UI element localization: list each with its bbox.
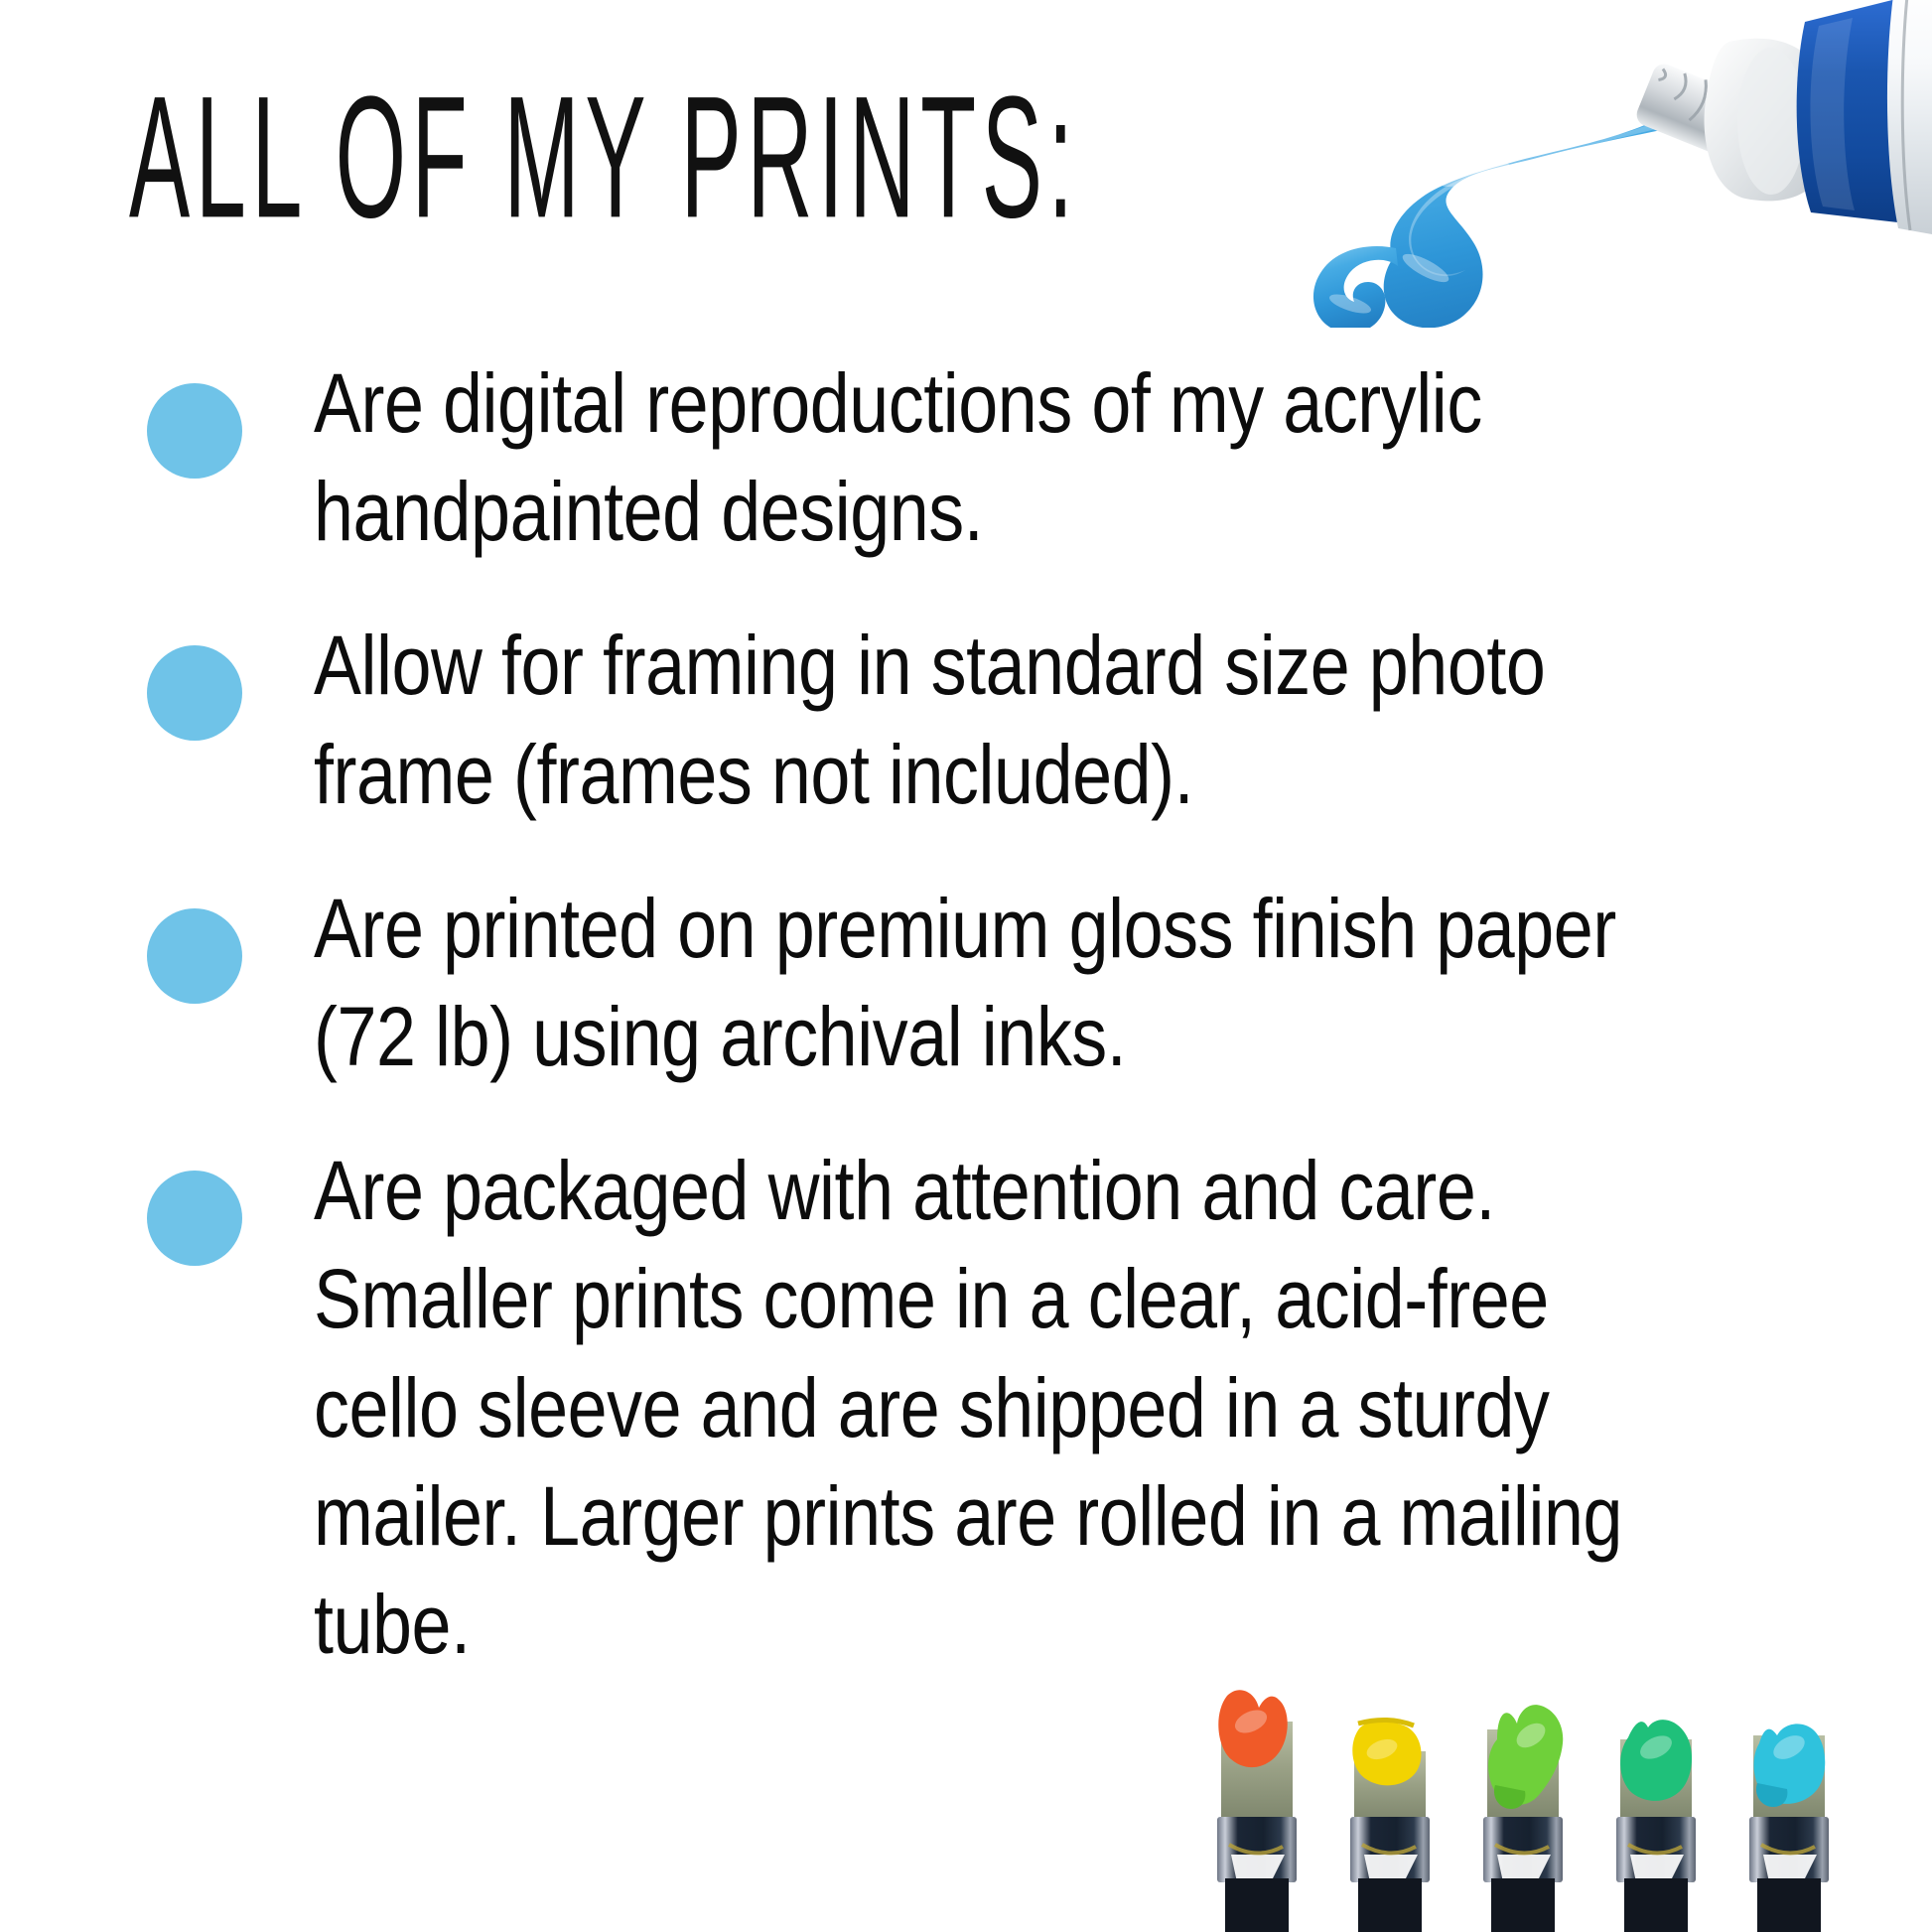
- list-item-label: Allow for framing in standard size photo…: [314, 612, 1638, 828]
- paint-brush-orange: [1217, 1690, 1297, 1932]
- page-title: All Of My Prints:: [129, 71, 1079, 245]
- list-item-label: Are packaged with attention and care. Sm…: [314, 1137, 1638, 1679]
- list-item: Allow for framing in standard size photo…: [0, 612, 1932, 828]
- list-item-label: Are printed on premium gloss finish pape…: [314, 875, 1638, 1091]
- feature-list: Are digital reproductions of my acrylic …: [0, 349, 1932, 1725]
- tube-band-icon: [1797, 0, 1932, 226]
- poster-canvas: All Of My Prints:: [0, 0, 1932, 1932]
- tube-neck-icon: [1633, 61, 1755, 161]
- paint-brush-cyan: [1749, 1724, 1829, 1932]
- bullet-dot-icon: [147, 1171, 242, 1266]
- paint-brush-yellow: [1350, 1720, 1430, 1932]
- paint-brush-emerald: [1616, 1720, 1696, 1932]
- list-item: Are digital reproductions of my acrylic …: [0, 349, 1932, 566]
- tube-body-icon: [1887, 0, 1932, 234]
- list-item: Are packaged with attention and care. Sm…: [0, 1137, 1932, 1679]
- list-item-label: Are digital reproductions of my acrylic …: [314, 349, 1638, 566]
- bullet-dot-icon: [147, 645, 242, 741]
- list-item: Are printed on premium gloss finish pape…: [0, 875, 1932, 1091]
- bullet-dot-icon: [147, 908, 242, 1004]
- paint-tube-decoration: [1098, 0, 1932, 328]
- paint-squeeze-icon: [1313, 115, 1680, 328]
- tube-shoulder-icon: [1705, 39, 1834, 202]
- bullet-dot-icon: [147, 383, 242, 479]
- paint-brush-light-green: [1483, 1705, 1563, 1932]
